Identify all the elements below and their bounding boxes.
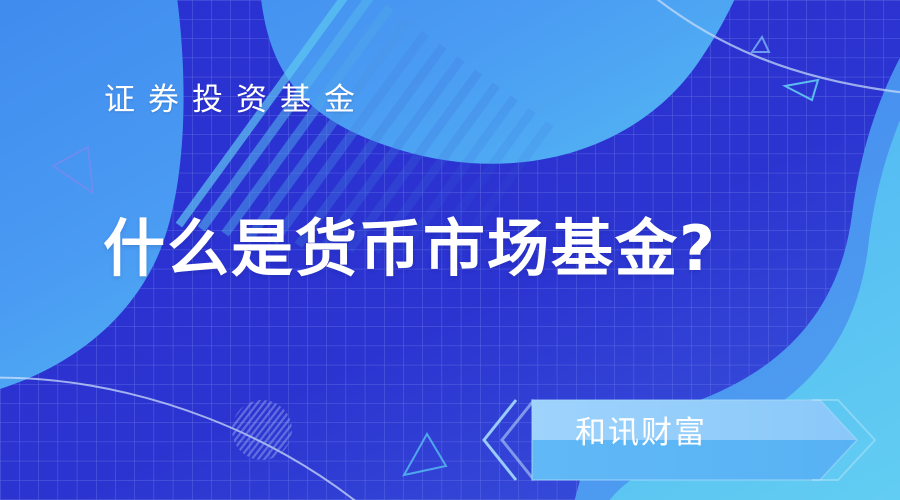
poster-subtitle: 证券投资基金 xyxy=(104,78,368,122)
poster-canvas: 证券投资基金 什么是货币市场基金? 和讯财富 xyxy=(0,0,900,500)
banner-echo-outline xyxy=(812,400,875,480)
arc-line-upper xyxy=(612,0,900,96)
brand-banner-label: 和讯财富 xyxy=(575,411,707,455)
triangle-outline-left xyxy=(53,147,93,193)
chevron-bracket-inner-icon xyxy=(502,400,534,480)
triangle-outline-top-right xyxy=(785,80,818,100)
triangle-outline-small-top xyxy=(752,37,769,52)
arc-line-lower xyxy=(0,378,420,500)
chevron-bracket-icon xyxy=(484,400,516,480)
poster-title: 什么是货币市场基金? xyxy=(103,208,717,290)
diagonal-stripe-fan xyxy=(176,0,554,369)
triangle-outline-bottom xyxy=(404,434,446,475)
striped-circle xyxy=(232,400,292,460)
